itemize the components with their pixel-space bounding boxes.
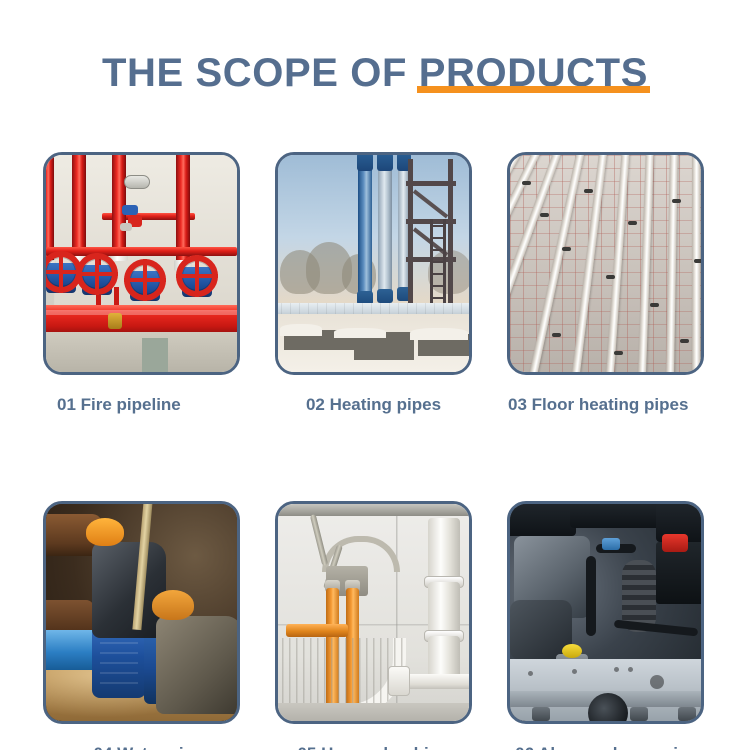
product-grid-row-2: 04 Water pipe	[43, 501, 710, 750]
water-pipe-photo	[46, 504, 237, 721]
product-card-heating-pipes[interactable]	[275, 152, 472, 375]
page-title: THE SCOPE OF PRODUCTS	[0, 48, 750, 98]
product-cell-floor-heating-pipes[interactable]: 03 Floor heating pipes	[507, 152, 704, 416]
product-card-fire-pipeline[interactable]	[43, 152, 240, 375]
product-label-fire-pipeline: 01 Fire pipeline	[43, 394, 240, 416]
heating-pipes-photo	[278, 155, 469, 372]
product-cell-home-plumbing[interactable]: 05 Home plumbing	[275, 501, 472, 750]
product-cell-water-pipe[interactable]: 04 Water pipe	[43, 501, 240, 750]
abnormal-car-noise-photo	[510, 504, 701, 721]
product-label-abnormal-car-noise: 06 Abnormal car noise	[507, 743, 704, 750]
home-plumbing-photo	[278, 504, 469, 721]
product-grid: 01 Fire pipeline	[43, 152, 710, 750]
product-label-floor-heating-pipes: 03 Floor heating pipes	[507, 394, 704, 416]
fire-pipeline-photo	[46, 155, 237, 372]
product-cell-abnormal-car-noise[interactable]: 06 Abnormal car noise	[507, 501, 704, 750]
product-cell-heating-pipes[interactable]: 02 Heating pipes	[275, 152, 472, 416]
product-grid-row-1: 01 Fire pipeline	[43, 152, 710, 416]
product-card-home-plumbing[interactable]	[275, 501, 472, 724]
product-card-floor-heating-pipes[interactable]	[507, 152, 704, 375]
page-title-accent: PRODUCTS	[419, 51, 648, 95]
page-title-prefix: THE SCOPE OF	[102, 51, 419, 95]
product-card-abnormal-car-noise[interactable]	[507, 501, 704, 724]
product-cell-fire-pipeline[interactable]: 01 Fire pipeline	[43, 152, 240, 416]
product-label-home-plumbing: 05 Home plumbing	[275, 743, 472, 750]
product-label-heating-pipes: 02 Heating pipes	[275, 394, 472, 416]
product-card-water-pipe[interactable]	[43, 501, 240, 724]
product-scope-poster: THE SCOPE OF PRODUCTS	[0, 0, 750, 750]
floor-heating-pipes-photo	[510, 155, 701, 372]
product-label-water-pipe: 04 Water pipe	[43, 743, 240, 750]
